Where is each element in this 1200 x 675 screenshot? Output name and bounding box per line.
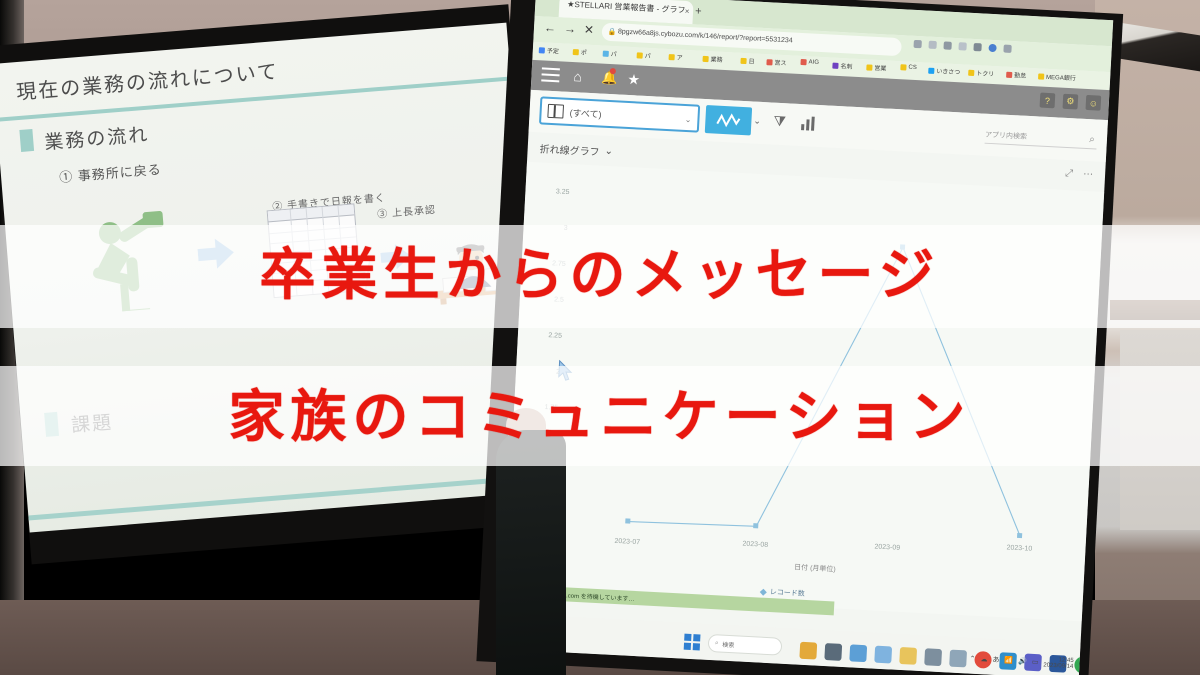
stop-icon[interactable]: ✕ (584, 23, 595, 38)
slide-section-heading: 業務の流れ (43, 120, 150, 155)
hamburger-icon[interactable] (541, 67, 560, 86)
drive-icon[interactable] (874, 646, 892, 664)
legend-label: レコード数 (770, 587, 805, 599)
chart-type-label: 折れ線グラフ (539, 140, 600, 158)
cloud-icon[interactable]: ☁ (980, 656, 987, 664)
chart-marker (1017, 533, 1022, 538)
y-tick-label: 3.25 (556, 188, 570, 196)
bookmark-label[interactable]: いきさつ (936, 66, 960, 76)
slide-heading-marker (19, 129, 34, 152)
taskbar-clock[interactable]: 12:45 2023/09/14 (1043, 656, 1074, 671)
mail-icon[interactable] (949, 650, 967, 668)
clock-date: 2023/09/14 (1043, 663, 1073, 671)
bookmark-icon (603, 50, 609, 56)
bookmark-label[interactable]: ポ (581, 47, 587, 56)
menu-icon[interactable] (1003, 45, 1011, 53)
bookmark-icon (702, 55, 708, 61)
extension-icon[interactable] (928, 41, 936, 49)
chart-options-icon[interactable]: ⋯ (1083, 169, 1094, 181)
right-projection-screen: ★STELLARI 営業報告書 - グラフ × + ← → ✕ 🔒 8pgzw6… (501, 0, 1113, 675)
ime-icon[interactable]: あ (992, 655, 1000, 665)
chart-marker (625, 518, 630, 523)
bookmark-label[interactable]: ア (676, 52, 682, 61)
view-selector-value: (すべて) (569, 105, 602, 120)
line-chart-icon (716, 112, 741, 129)
filter-icon[interactable]: ⧩ (773, 113, 786, 131)
network-icon[interactable]: 📶 (1004, 657, 1013, 665)
bookmark-icon (1038, 73, 1044, 79)
bookmark-icon (539, 47, 545, 53)
screenshot-root: 現在の業務の流れについて 業務の流れ ① 事務所に戻る ② 手書きで日報を書く … (0, 0, 1200, 675)
extension-icon[interactable] (973, 43, 981, 51)
windows-start-icon[interactable] (684, 634, 701, 651)
lock-icon: 🔒 (608, 28, 617, 36)
bookmark-icon (1006, 71, 1012, 77)
bookmark-icon (740, 57, 746, 63)
x-tick-label: 2023-09 (874, 543, 900, 551)
bookmark-label[interactable]: 営業 (874, 63, 886, 73)
bookmark-label[interactable]: AIG (808, 59, 819, 66)
search-icon: ⌕ (715, 640, 719, 647)
bookmark-icon (968, 69, 974, 75)
user-icon[interactable]: ☺ (1085, 95, 1101, 111)
bookmark-icon (832, 62, 838, 68)
bookmark-icon (766, 59, 772, 65)
browser-tab-title: ★STELLARI 営業報告書 - グラフ (567, 0, 686, 15)
battery-icon[interactable]: ▭ (1032, 658, 1039, 666)
store-icon[interactable] (824, 643, 842, 661)
bookmark-icon (928, 67, 934, 73)
new-tab-button[interactable]: + (695, 5, 702, 17)
taskbar-search-input[interactable]: ⌕ 検索 (708, 634, 783, 656)
close-icon[interactable]: × (684, 7, 689, 16)
music-icon[interactable] (924, 648, 942, 666)
slide-step-1: ① 事務所に戻る (58, 159, 162, 186)
caption-line-1: 卒業生からのメッセージ (0, 236, 1200, 316)
notes-icon[interactable] (849, 644, 867, 662)
bookmark-label[interactable]: 業務 (710, 54, 722, 64)
bookmark-label[interactable]: パ (611, 49, 617, 58)
legend-marker-icon (760, 588, 767, 595)
caption-line-2: 家族のコミュニケーション (0, 378, 1200, 458)
profile-avatar[interactable] (988, 44, 996, 52)
volume-icon[interactable]: 🔊 (1018, 658, 1027, 666)
explorer-icon[interactable] (799, 642, 817, 660)
address-bar-url: 8pgzw66a8js.cybozu.com/k/146/report/?rep… (618, 28, 793, 44)
bookmark-icon (800, 59, 806, 65)
x-tick-label: 2023-07 (614, 538, 640, 546)
star-icon[interactable]: ★ (627, 71, 640, 89)
bookmark-label[interactable]: CS (908, 65, 917, 71)
chevron-down-icon[interactable]: ⌄ (753, 116, 761, 127)
forward-icon[interactable]: → (564, 22, 577, 37)
bar-chart-icon[interactable] (801, 116, 815, 131)
bookmark-label[interactable]: 予定 (547, 46, 559, 56)
chevron-down-icon[interactable]: ⌄ (684, 115, 691, 124)
back-icon[interactable]: ← (544, 20, 557, 35)
folder-icon[interactable] (899, 647, 917, 665)
extension-icon[interactable] (943, 41, 951, 49)
bookmark-label[interactable]: 営ス (774, 58, 786, 68)
list-view-icon (547, 104, 564, 119)
chart-marker (753, 523, 758, 528)
bookmark-icon (866, 64, 872, 70)
presenter-silhouette (496, 430, 566, 675)
y-tick-label: 2.25 (548, 332, 562, 340)
x-axis-label: 日付 (月単位) (794, 562, 836, 574)
kintone-header-right-icons: ? ⚙ ☺ (1040, 93, 1102, 111)
bookmark-label[interactable]: 名刺 (840, 61, 852, 71)
chart-tools: ⤢ ⋯ (1065, 168, 1094, 180)
chart-type-selector[interactable]: 折れ線グラフ ⌄ (539, 140, 613, 159)
gear-icon[interactable]: ⚙ (1063, 94, 1079, 110)
home-icon[interactable]: ⌂ (573, 68, 582, 84)
bookmark-icon (637, 52, 643, 58)
extension-icon[interactable] (958, 42, 966, 50)
help-icon[interactable]: ? (1040, 93, 1056, 109)
bookmark-icon (669, 54, 675, 60)
chart-expand-icon[interactable]: ⤢ (1065, 168, 1074, 179)
bookmark-icon (900, 64, 906, 70)
bookmark-label[interactable]: 勤怠 (1014, 70, 1026, 80)
bookmark-icon (573, 49, 579, 55)
bookmark-label[interactable]: パ (644, 51, 650, 60)
bookmark-label[interactable]: トクリ (976, 68, 994, 78)
search-icon[interactable]: ⌕ (1089, 134, 1095, 145)
bookmark-label[interactable]: 日 (748, 56, 754, 65)
extension-icon[interactable] (913, 40, 921, 48)
x-tick-label: 2023-10 (1006, 544, 1032, 552)
chevron-up-icon[interactable]: ⌃ (969, 655, 975, 663)
chevron-down-icon[interactable]: ⌄ (604, 146, 613, 157)
x-tick-label: 2023-08 (742, 541, 768, 549)
slide-step-3: ③ 上長承認 (377, 201, 437, 221)
bookmark-label[interactable]: MEGA銀行 (1046, 72, 1076, 83)
taskbar-search-placeholder: 検索 (722, 639, 734, 649)
graph-view-button[interactable] (705, 105, 752, 135)
app-search-placeholder: アプリ内検索 (985, 132, 1027, 141)
